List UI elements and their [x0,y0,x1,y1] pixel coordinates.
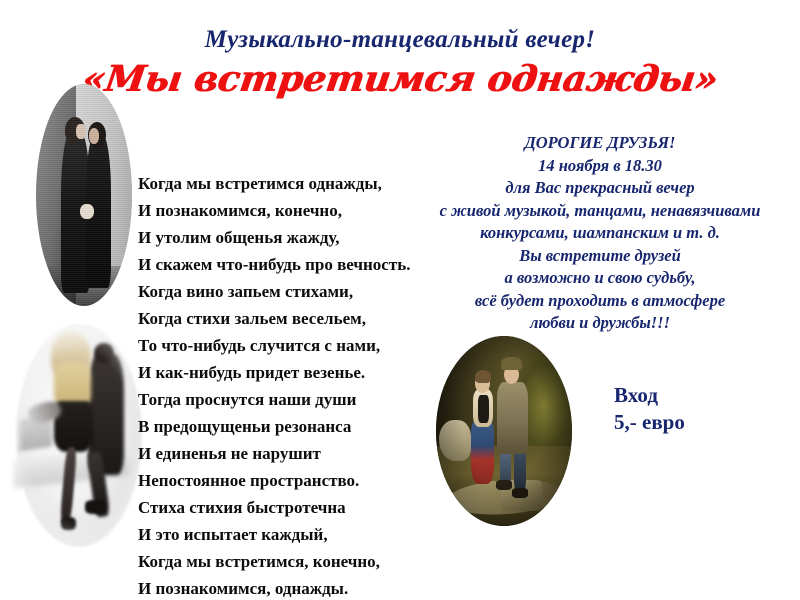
invitation-line: всё будет проходить в атмосфере [400,290,800,313]
invitation-line: а возможно и свою судьбу, [400,267,800,290]
couple-photo-grain-overlay [36,84,132,306]
poem-line: Когда мы встретимся однажды, [138,170,438,197]
poem-line: Когда вино запьем стихами, [138,278,438,305]
poem-line: То что-нибудь случится с нами, [138,332,438,359]
poem-line: И познакомимся, конечно, [138,197,438,224]
invitation-line: Вы встретите друзей [400,245,800,268]
invitation-line: любви и дружбы!!! [400,312,800,335]
painting-image [436,336,572,526]
poem-line: Непостоянное пространство. [138,467,438,494]
invitation-line: ДОРОГИЕ ДРУЗЬЯ! [400,132,800,155]
dancing-photo [4,324,154,556]
poster-canvas: Музыкально-танцевальный вечер! «Мы встре… [0,0,800,600]
poem-line: Тогда проснутся наши души [138,386,438,413]
poem-line: И как-нибудь придет везенье. [138,359,438,386]
invitation-line: 14 ноября в 18.30 [400,155,800,178]
poem-line: Когда стихи зальем весельем, [138,305,438,332]
couple-photo [36,84,132,306]
entry-price-block: Вход 5,- евро [614,382,685,436]
entry-label: Вход [614,382,685,409]
poem-line: И единенья не нарушит [138,440,438,467]
poem-line: В предощущеньи резонанса [138,413,438,440]
entry-amount: 5,- евро [614,409,685,436]
painting-vignette [436,336,572,526]
poem-line: И утолим общенья жажду, [138,224,438,251]
dancing-photo-fade-overlay [4,324,154,556]
invitation-block: ДОРОГИЕ ДРУЗЬЯ! 14 ноября в 18.30 для Ва… [400,132,800,335]
poem-line: Стиха стихия быстротечна [138,494,438,521]
invitation-line: для Вас прекрасный вечер [400,177,800,200]
poem-line: И познакомимся, однажды. [138,575,438,600]
poem-line: И это испытает каждый, [138,521,438,548]
invitation-line: конкурсами, шампанским и т. д. [400,222,800,245]
page-title: Музыкально-танцевальный вечер! [0,26,800,54]
poem-block: Когда мы встретимся однажды, И познакоми… [138,170,438,600]
poem-line: И скажем что-нибудь про вечность. [138,251,438,278]
invitation-line: с живой музыкой, танцами, ненавязчивами [400,200,800,223]
poem-line: Когда мы встретимся, конечно, [138,548,438,575]
